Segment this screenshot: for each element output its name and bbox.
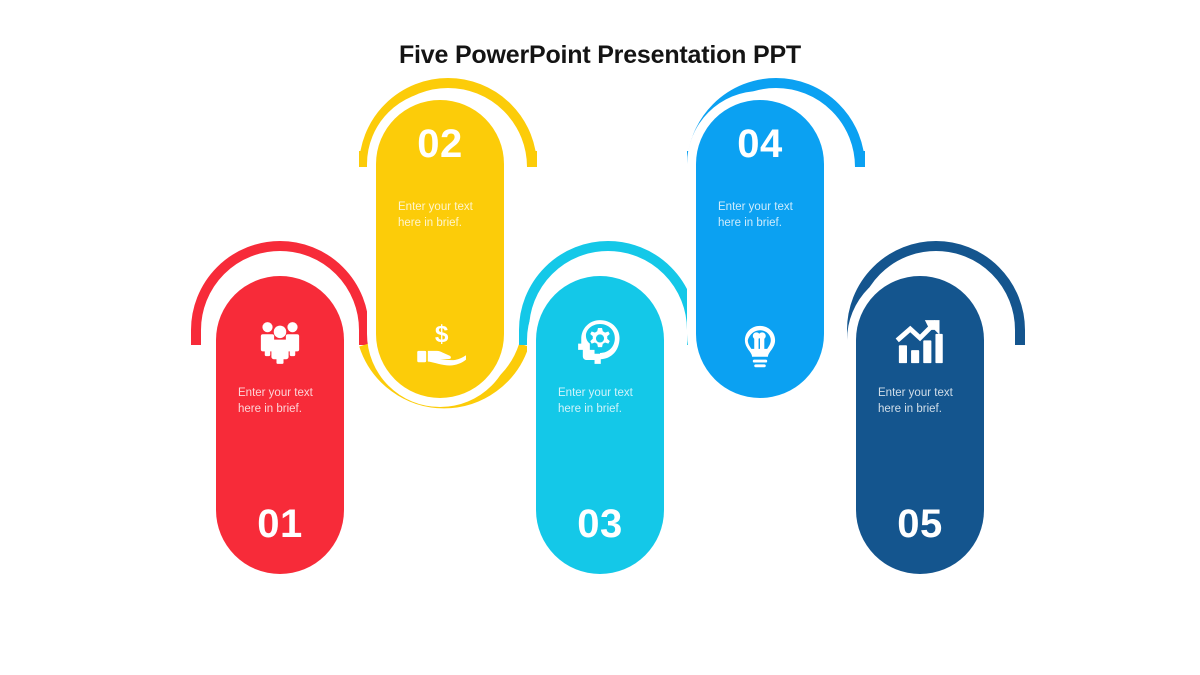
step-number: 05 — [897, 504, 943, 544]
step-card-04[interactable]: 04 Enter your text here in brief. — [696, 100, 824, 398]
head-gear-icon — [572, 314, 628, 370]
step-card-03[interactable]: Enter your text here in brief. 03 — [536, 276, 664, 574]
step-number: 04 — [737, 124, 783, 164]
step-description: Enter your text here in brief. — [878, 386, 962, 417]
people-group-icon — [252, 314, 308, 370]
step-description: Enter your text here in brief. — [718, 200, 802, 231]
step-card-05[interactable]: Enter your text here in brief. 05 — [856, 276, 984, 574]
growth-chart-icon — [892, 314, 948, 370]
svg-text:$: $ — [435, 321, 449, 348]
slide-canvas: Five PowerPoint Presentation PPT — [0, 0, 1200, 675]
step-description: Enter your text here in brief. — [558, 386, 642, 417]
lightbulb-icon — [732, 318, 788, 374]
page-title: Five PowerPoint Presentation PPT — [0, 41, 1200, 70]
step-number: 02 — [417, 124, 463, 164]
step-card-02[interactable]: 02 Enter your text here in brief. $ — [376, 100, 504, 398]
step-number: 03 — [577, 504, 623, 544]
hand-dollar-icon: $ — [412, 318, 468, 374]
step-card-01[interactable]: Enter your text here in brief. 01 — [216, 276, 344, 574]
step-number: 01 — [257, 504, 303, 544]
step-description: Enter your text here in brief. — [238, 386, 322, 417]
step-description: Enter your text here in brief. — [398, 200, 482, 231]
